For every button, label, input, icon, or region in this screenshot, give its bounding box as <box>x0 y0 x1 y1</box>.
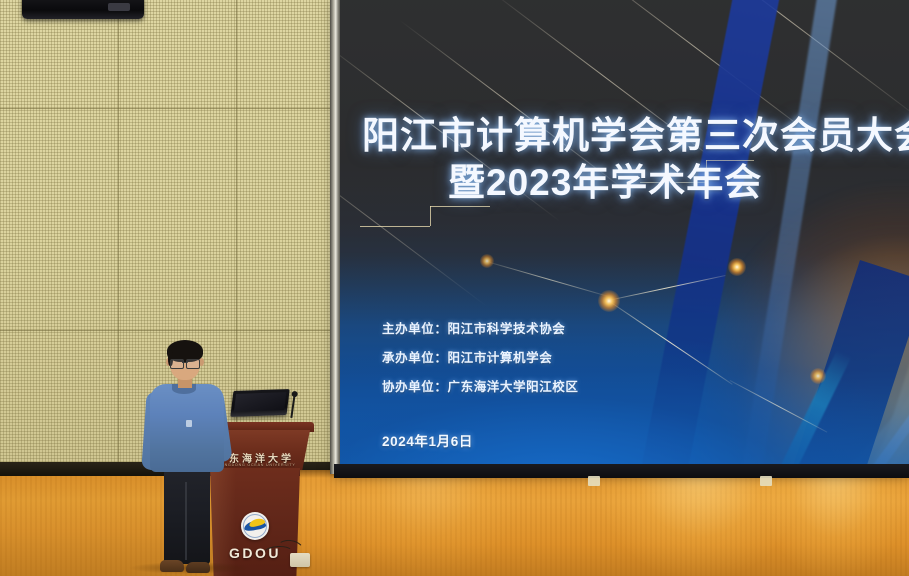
gdou-emblem-icon <box>241 512 269 540</box>
led-presentation-screen: 阳江市计算机学会第三次会员大会 暨2023年学术年会 主办单位：阳江市科学技术协… <box>340 0 909 464</box>
led-screen-bottom-bezel <box>334 464 909 478</box>
screenshot-root: 阳江市计算机学会第三次会员大会 暨2023年学术年会 主办单位：阳江市科学技术协… <box>0 0 909 576</box>
organizer-line-host: 主办单位：阳江市科学技术协会 <box>382 318 565 337</box>
power-adapter <box>290 553 310 567</box>
screen-mount-bracket <box>760 476 772 486</box>
wall-seam <box>118 0 119 470</box>
presenter-shoe-right <box>186 562 210 573</box>
screen-text-block: 阳江市计算机学会第三次会员大会 暨2023年学术年会 主办单位：阳江市科学技术协… <box>340 0 909 464</box>
screen-mount-bracket <box>588 476 600 486</box>
wall-seam <box>0 108 340 109</box>
laptop <box>230 389 289 417</box>
event-title-line-2: 暨2023年学术年会 <box>448 152 762 206</box>
trouser-seam <box>185 482 187 560</box>
glasses-lens-left <box>170 359 184 369</box>
glasses-lens-right <box>186 359 200 369</box>
glasses-icon <box>170 359 200 367</box>
speaker-bracket <box>108 3 130 11</box>
presenter <box>142 332 238 576</box>
wall-seam <box>0 330 340 331</box>
organizer-line-undertaker: 承办单位：阳江市计算机学会 <box>382 347 552 366</box>
organizer-line-coorganizer: 协办单位：广东海洋大学阳江校区 <box>382 376 579 395</box>
stage-floor <box>300 470 909 576</box>
logo-ring <box>243 514 267 538</box>
event-date: 2024年1月6日 <box>382 430 473 450</box>
presenter-sweater <box>150 384 224 472</box>
presenter-shoe-left <box>160 560 184 572</box>
ceiling-speaker-icon <box>22 0 144 19</box>
sweater-logo <box>186 420 192 427</box>
event-title-line-1: 阳江市计算机学会第三次会员大会 <box>362 105 909 159</box>
